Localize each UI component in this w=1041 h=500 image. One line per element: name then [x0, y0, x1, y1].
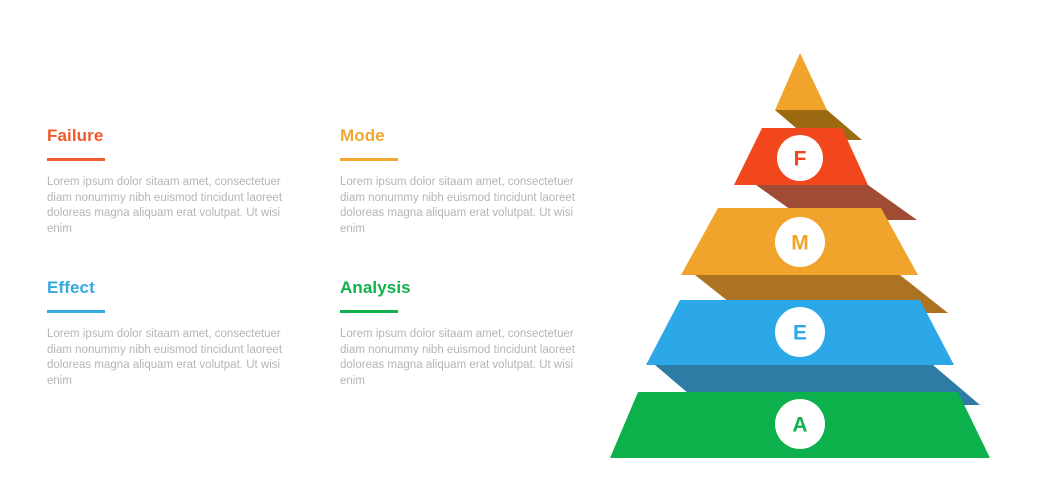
pyramid-svg: F M E A [600, 30, 1020, 470]
panel-body-effect: Lorem ipsum dolor sitaam amet, consectet… [47, 327, 305, 389]
panel-effect: Effect Lorem ipsum dolor sitaam amet, co… [47, 278, 317, 389]
pyramid-graphic: F M E A [600, 30, 1020, 470]
layer-badge-letter-effect: E [793, 322, 807, 345]
layer-badge-letter-failure: F [794, 148, 807, 171]
panel-body-mode: Lorem ipsum dolor sitaam amet, consectet… [340, 175, 598, 237]
panel-analysis: Analysis Lorem ipsum dolor sitaam amet, … [340, 278, 610, 389]
panel-rule-failure [47, 158, 105, 161]
infographic-canvas: Failure Lorem ipsum dolor sitaam amet, c… [0, 0, 1041, 500]
panel-rule-mode [340, 158, 398, 161]
layer-badge-letter-mode: M [791, 232, 809, 255]
panel-title-effect: Effect [47, 278, 317, 298]
panel-rule-analysis [340, 310, 398, 313]
panel-rule-effect [47, 310, 105, 313]
panel-title-mode: Mode [340, 126, 610, 146]
panel-body-failure: Lorem ipsum dolor sitaam amet, consectet… [47, 175, 305, 237]
panel-title-failure: Failure [47, 126, 317, 146]
panel-body-analysis: Lorem ipsum dolor sitaam amet, consectet… [340, 327, 598, 389]
layer-badge-letter-analysis: A [792, 414, 807, 437]
panel-title-analysis: Analysis [340, 278, 610, 298]
pyramid-tip [775, 53, 827, 110]
panel-failure: Failure Lorem ipsum dolor sitaam amet, c… [47, 126, 317, 237]
panel-mode: Mode Lorem ipsum dolor sitaam amet, cons… [340, 126, 610, 237]
